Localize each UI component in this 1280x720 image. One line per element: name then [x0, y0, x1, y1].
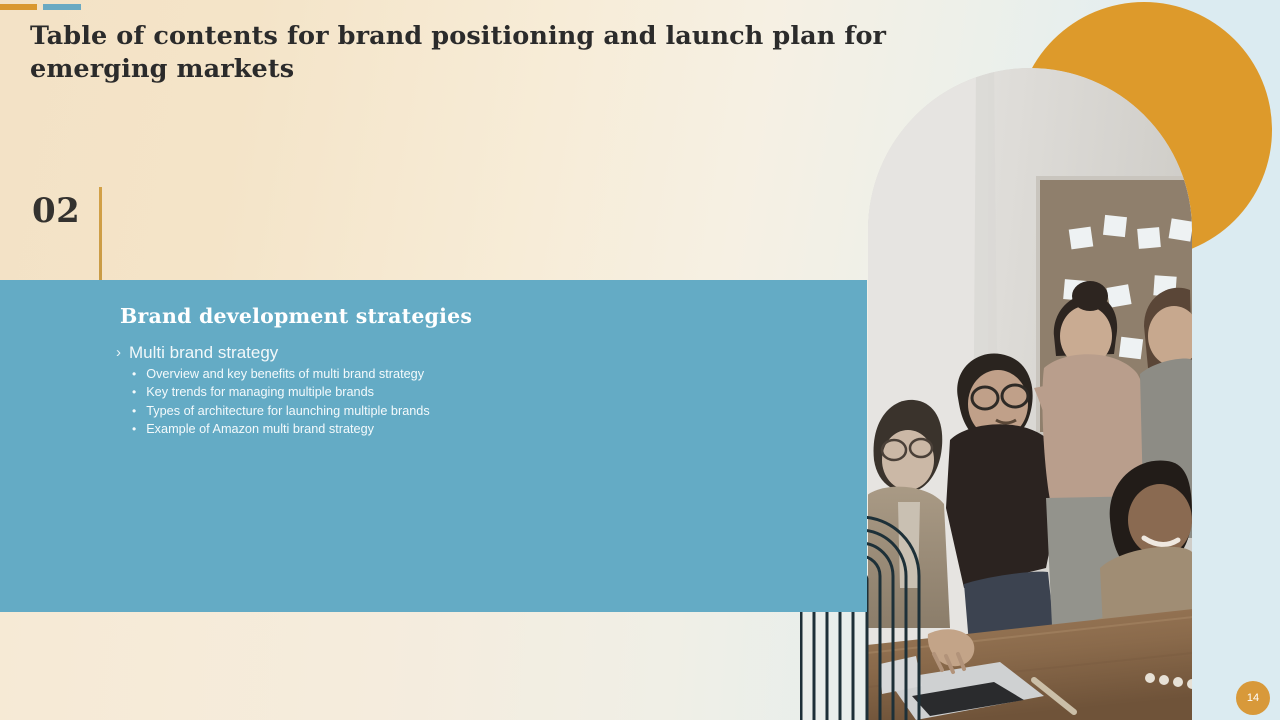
bullet-icon: •: [132, 365, 136, 383]
topic-label: Multi brand strategy: [129, 342, 278, 364]
list-item-label: Example of Amazon multi brand strategy: [146, 420, 374, 438]
list-item: • Key trends for managing multiple brand…: [132, 383, 430, 401]
list-item: • Overview and key benefits of multi bra…: [132, 365, 430, 383]
team-photo: [868, 68, 1192, 720]
topic-sub-list: • Overview and key benefits of multi bra…: [132, 365, 430, 439]
bullet-icon: •: [132, 420, 136, 438]
orange-rule-icon: [0, 4, 37, 10]
topic-row: › Multi brand strategy: [116, 342, 278, 364]
bullet-icon: •: [132, 383, 136, 401]
list-item-label: Overview and key benefits of multi brand…: [146, 365, 424, 383]
list-item-label: Key trends for managing multiple brands: [146, 383, 374, 401]
page-number-badge: 14: [1236, 681, 1270, 715]
chevron-right-icon: ›: [116, 342, 121, 364]
section-heading: Brand development strategies: [120, 303, 472, 330]
list-item-label: Types of architecture for launching mult…: [146, 402, 430, 420]
section-number: 02: [32, 191, 80, 231]
list-item: • Types of architecture for launching mu…: [132, 402, 430, 420]
bullet-icon: •: [132, 402, 136, 420]
blue-rule-icon: [43, 4, 81, 10]
list-item: • Example of Amazon multi brand strategy: [132, 420, 430, 438]
page-title: Table of contents for brand positioning …: [30, 20, 900, 86]
slide-canvas: Table of contents for brand positioning …: [0, 0, 1280, 720]
